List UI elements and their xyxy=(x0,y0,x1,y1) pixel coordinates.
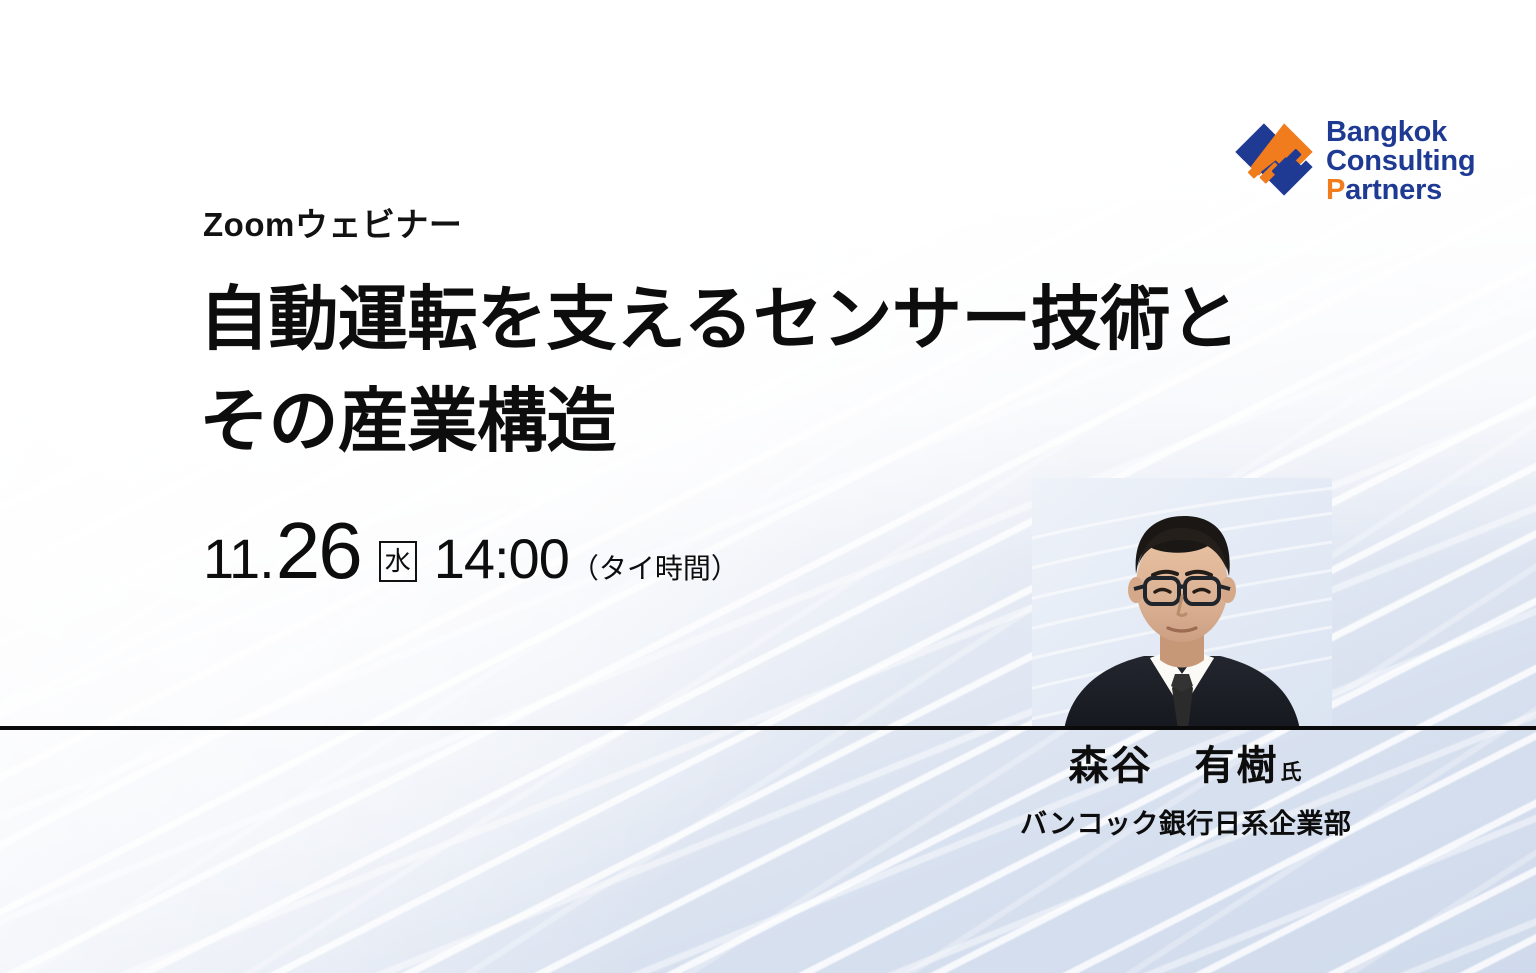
event-date-month: 11. xyxy=(203,526,274,591)
event-time: 14:00 xyxy=(434,526,569,591)
brand-line-consulting: Consulting xyxy=(1326,147,1475,176)
event-kicker: Zoomウェビナー xyxy=(203,198,462,246)
speaker-headshot-illustration xyxy=(1032,478,1332,730)
webinar-banner: Bangkok Consulting Partners Zoomウェビナー 自動… xyxy=(0,0,1536,973)
speaker-caption: 森谷 有樹氏 バンコック銀行日系企業部 xyxy=(1020,742,1350,841)
event-day-of-week-badge: 水 xyxy=(379,541,417,582)
brand-line-bangkok: Bangkok xyxy=(1326,118,1475,147)
event-title-line-2: その産業構造 xyxy=(199,370,1239,472)
speaker-honorific: 氏 xyxy=(1281,761,1302,784)
event-date-day: 26 xyxy=(276,505,361,597)
event-title: 自動運転を支えるセンサー技術と その産業構造 xyxy=(199,268,1239,472)
brand-line-partners: Partners xyxy=(1326,176,1475,205)
speaker-name-row: 森谷 有樹氏 xyxy=(1020,742,1350,790)
handshake-diamond-icon xyxy=(1232,120,1316,204)
event-title-line-1: 自動運転を支えるセンサー技術と xyxy=(199,268,1239,370)
speaker-photo xyxy=(1032,478,1332,730)
speaker-name: 森谷 有樹 xyxy=(1069,744,1279,788)
event-datetime: 11. 26 水 14:00 （タイ時間） xyxy=(203,505,739,597)
speaker-affiliation: バンコック銀行日系企業部 xyxy=(1020,802,1350,841)
brand-wordmark: Bangkok Consulting Partners xyxy=(1326,118,1475,205)
section-divider xyxy=(0,726,1536,730)
event-timezone-note: （タイ時間） xyxy=(571,547,739,587)
brand-logo: Bangkok Consulting Partners xyxy=(1232,118,1475,205)
